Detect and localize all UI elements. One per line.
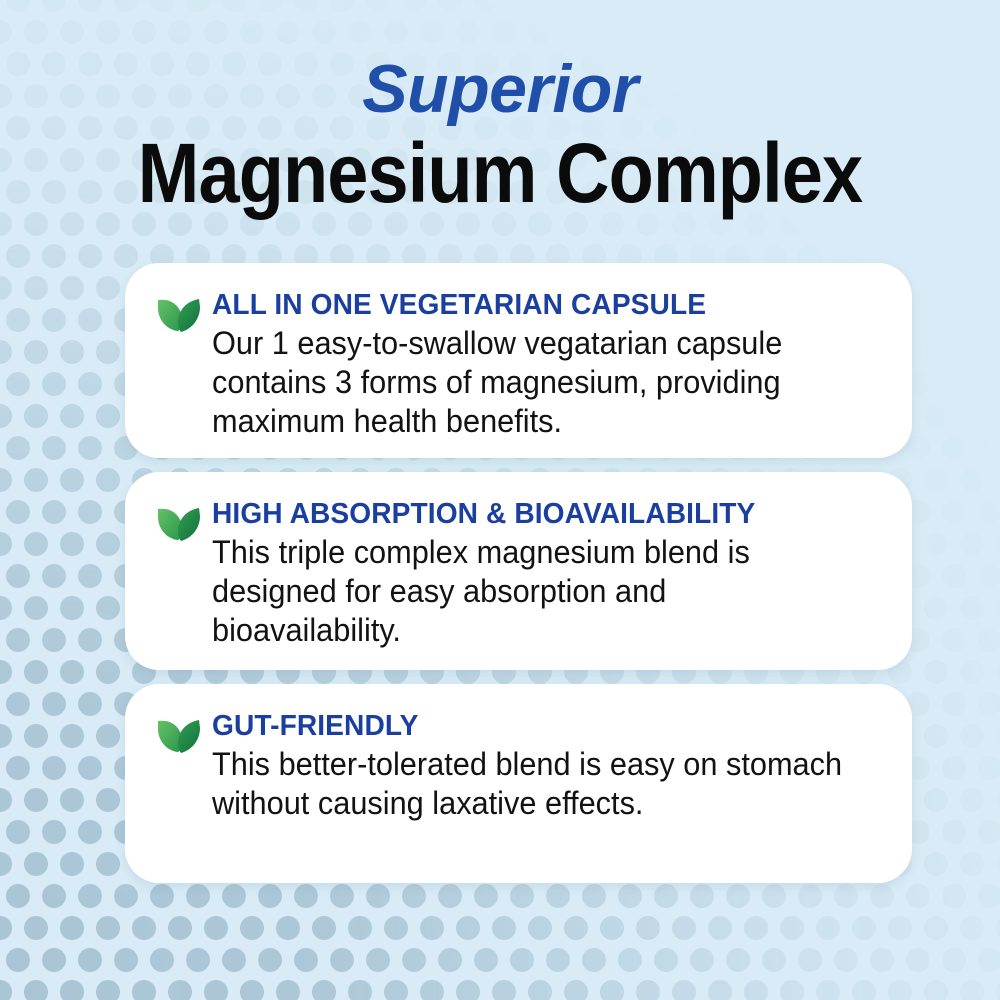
title-script-line: Superior: [0, 52, 1000, 126]
benefit-card-title: ALL IN ONE VEGETARIAN CAPSULE: [212, 289, 858, 321]
leaf-icon: [155, 504, 203, 544]
benefit-card: ALL IN ONE VEGETARIAN CAPSULE Our 1 easy…: [125, 263, 912, 458]
title-main-line: Magnesium Complex: [60, 128, 940, 218]
leaf-icon: [155, 295, 203, 335]
benefit-card-text: This better-tolerated blend is easy on s…: [212, 745, 851, 823]
benefit-card: HIGH ABSORPTION & BIOAVAILABILITY This t…: [125, 472, 912, 670]
benefit-card-list: ALL IN ONE VEGETARIAN CAPSULE Our 1 easy…: [125, 263, 912, 897]
benefit-card-title: GUT-FRIENDLY: [212, 710, 858, 742]
page-title: Superior Magnesium Complex: [0, 52, 1000, 218]
benefit-card: GUT-FRIENDLY This better-tolerated blend…: [125, 684, 912, 883]
benefit-card-text: Our 1 easy-to-swallow vegatarian capsule…: [212, 324, 851, 441]
benefit-card-text: This triple complex magnesium blend is d…: [212, 533, 851, 650]
product-infographic: Superior Magnesium Complex: [0, 0, 1000, 1000]
benefit-card-title: HIGH ABSORPTION & BIOAVAILABILITY: [212, 498, 858, 530]
leaf-icon: [155, 716, 203, 756]
